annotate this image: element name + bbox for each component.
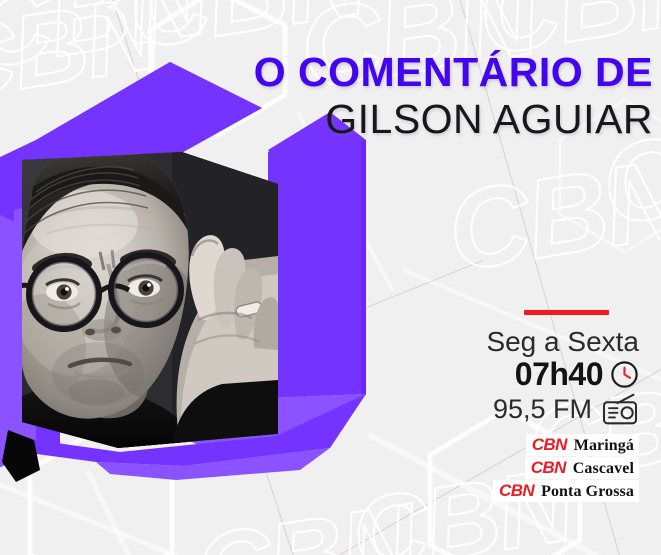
station-item: CBN Ponta Grossa: [493, 480, 639, 502]
title-line-1: O COMENTÁRIO DE: [254, 52, 653, 93]
frequency-label: 95,5 FM: [493, 396, 592, 423]
station-item: CBN Maringá: [526, 434, 639, 456]
broadcast-time: 07h40: [515, 358, 603, 390]
station-list: CBN Maringá CBN Cascavel CBN Ponta Gross…: [409, 434, 639, 502]
radio-icon: [601, 393, 639, 425]
cbn-logo: CBN: [532, 435, 567, 454]
broadcast-time-row: 07h40: [409, 358, 639, 390]
title-line-2: GILSON AGUIAR: [254, 97, 653, 143]
promo-card: CBN CBN CBN CBN CBN CBN CBN CBN CBN CBN: [0, 0, 661, 555]
clock-icon: [610, 360, 639, 389]
station-city: Cascavel: [573, 460, 634, 478]
station-city: Ponta Grossa: [541, 483, 634, 501]
cbn-logo: CBN: [531, 458, 566, 477]
cbn-logo: CBN: [499, 481, 534, 500]
schedule-panel: Seg a Sexta 07h40 95,5 FM: [409, 310, 639, 502]
station-city: Maringá: [574, 437, 634, 455]
red-divider: [524, 310, 609, 315]
broadcast-days: Seg a Sexta: [409, 327, 639, 356]
show-title: O COMENTÁRIO DE GILSON AGUIAR: [254, 52, 653, 143]
station-item: CBN Cascavel: [525, 457, 639, 479]
frequency-row: 95,5 FM: [409, 393, 639, 425]
